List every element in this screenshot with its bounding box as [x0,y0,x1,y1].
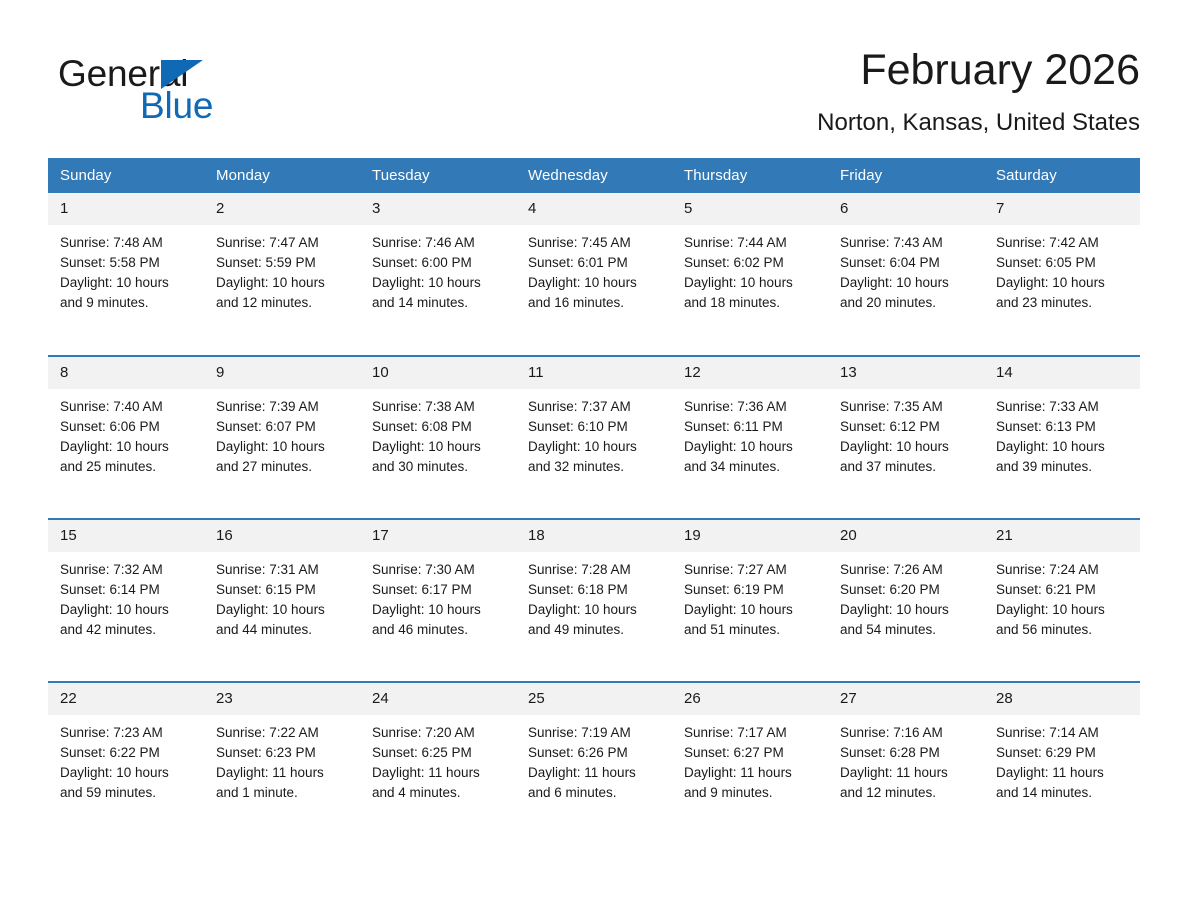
day-details: Sunrise: 7:48 AMSunset: 5:58 PMDaylight:… [48,225,204,313]
calendar-day-cell[interactable]: 2Sunrise: 7:47 AMSunset: 5:59 PMDaylight… [204,193,360,356]
calendar-day-cell[interactable]: 4Sunrise: 7:45 AMSunset: 6:01 PMDaylight… [516,193,672,356]
sunset-text: Sunset: 6:26 PM [528,743,662,763]
daylight-text: Daylight: 10 hours and 23 minutes. [996,273,1130,313]
day-number: 21 [984,520,1140,552]
day-number: 9 [204,357,360,389]
sunset-text: Sunset: 6:15 PM [216,580,350,600]
sunrise-text: Sunrise: 7:16 AM [840,723,974,743]
sunrise-text: Sunrise: 7:39 AM [216,397,350,417]
weekday-header-tuesday: Tuesday [360,158,516,193]
day-details: Sunrise: 7:40 AMSunset: 6:06 PMDaylight:… [48,389,204,477]
daylight-text: Daylight: 11 hours and 12 minutes. [840,763,974,803]
day-details: Sunrise: 7:26 AMSunset: 6:20 PMDaylight:… [828,552,984,640]
day-details: Sunrise: 7:39 AMSunset: 6:07 PMDaylight:… [204,389,360,477]
calendar-day-cell[interactable]: 26Sunrise: 7:17 AMSunset: 6:27 PMDayligh… [672,682,828,845]
sunset-text: Sunset: 6:01 PM [528,253,662,273]
sunset-text: Sunset: 6:19 PM [684,580,818,600]
sunrise-text: Sunrise: 7:47 AM [216,233,350,253]
page-title: February 2026 [440,44,1140,96]
calendar-week-row: 22Sunrise: 7:23 AMSunset: 6:22 PMDayligh… [48,682,1140,845]
day-number: 19 [672,520,828,552]
calendar-body: 1Sunrise: 7:48 AMSunset: 5:58 PMDaylight… [48,193,1140,845]
daylight-text: Daylight: 10 hours and 42 minutes. [60,600,194,640]
calendar-day-cell[interactable]: 27Sunrise: 7:16 AMSunset: 6:28 PMDayligh… [828,682,984,845]
logo-text-blue: Blue [140,84,213,128]
sunrise-text: Sunrise: 7:36 AM [684,397,818,417]
sunset-text: Sunset: 6:13 PM [996,417,1130,437]
day-details: Sunrise: 7:19 AMSunset: 6:26 PMDaylight:… [516,715,672,803]
calendar-day-cell[interactable]: 11Sunrise: 7:37 AMSunset: 6:10 PMDayligh… [516,356,672,519]
calendar-day-cell[interactable]: 12Sunrise: 7:36 AMSunset: 6:11 PMDayligh… [672,356,828,519]
sunrise-text: Sunrise: 7:33 AM [996,397,1130,417]
sunset-text: Sunset: 6:29 PM [996,743,1130,763]
day-number: 2 [204,193,360,225]
calendar-day-cell[interactable]: 7Sunrise: 7:42 AMSunset: 6:05 PMDaylight… [984,193,1140,356]
calendar-day-cell[interactable]: 1Sunrise: 7:48 AMSunset: 5:58 PMDaylight… [48,193,204,356]
calendar-day-cell[interactable]: 14Sunrise: 7:33 AMSunset: 6:13 PMDayligh… [984,356,1140,519]
sunrise-text: Sunrise: 7:31 AM [216,560,350,580]
day-details: Sunrise: 7:37 AMSunset: 6:10 PMDaylight:… [516,389,672,477]
sunrise-text: Sunrise: 7:38 AM [372,397,506,417]
day-details: Sunrise: 7:28 AMSunset: 6:18 PMDaylight:… [516,552,672,640]
sunset-text: Sunset: 6:05 PM [996,253,1130,273]
day-number: 22 [48,683,204,715]
day-number: 26 [672,683,828,715]
day-details: Sunrise: 7:17 AMSunset: 6:27 PMDaylight:… [672,715,828,803]
sunrise-text: Sunrise: 7:20 AM [372,723,506,743]
weekday-header-sunday: Sunday [48,158,204,193]
day-number: 13 [828,357,984,389]
calendar-day-cell[interactable]: 19Sunrise: 7:27 AMSunset: 6:19 PMDayligh… [672,519,828,682]
sunset-text: Sunset: 5:59 PM [216,253,350,273]
daylight-text: Daylight: 10 hours and 20 minutes. [840,273,974,313]
calendar-day-cell[interactable]: 18Sunrise: 7:28 AMSunset: 6:18 PMDayligh… [516,519,672,682]
day-details: Sunrise: 7:14 AMSunset: 6:29 PMDaylight:… [984,715,1140,803]
daylight-text: Daylight: 11 hours and 6 minutes. [528,763,662,803]
day-details: Sunrise: 7:30 AMSunset: 6:17 PMDaylight:… [360,552,516,640]
sunrise-text: Sunrise: 7:23 AM [60,723,194,743]
calendar-day-cell[interactable]: 16Sunrise: 7:31 AMSunset: 6:15 PMDayligh… [204,519,360,682]
sunset-text: Sunset: 5:58 PM [60,253,194,273]
day-details: Sunrise: 7:20 AMSunset: 6:25 PMDaylight:… [360,715,516,803]
sunrise-text: Sunrise: 7:22 AM [216,723,350,743]
sunset-text: Sunset: 6:08 PM [372,417,506,437]
sunset-text: Sunset: 6:20 PM [840,580,974,600]
calendar-day-cell[interactable]: 13Sunrise: 7:35 AMSunset: 6:12 PMDayligh… [828,356,984,519]
daylight-text: Daylight: 10 hours and 12 minutes. [216,273,350,313]
sunrise-text: Sunrise: 7:24 AM [996,560,1130,580]
day-details: Sunrise: 7:22 AMSunset: 6:23 PMDaylight:… [204,715,360,803]
sunrise-text: Sunrise: 7:44 AM [684,233,818,253]
calendar-day-cell[interactable]: 20Sunrise: 7:26 AMSunset: 6:20 PMDayligh… [828,519,984,682]
calendar-day-cell[interactable]: 23Sunrise: 7:22 AMSunset: 6:23 PMDayligh… [204,682,360,845]
calendar-day-cell[interactable]: 6Sunrise: 7:43 AMSunset: 6:04 PMDaylight… [828,193,984,356]
day-number: 11 [516,357,672,389]
sunset-text: Sunset: 6:18 PM [528,580,662,600]
daylight-text: Daylight: 10 hours and 39 minutes. [996,437,1130,477]
day-number: 5 [672,193,828,225]
daylight-text: Daylight: 11 hours and 4 minutes. [372,763,506,803]
calendar-day-cell[interactable]: 10Sunrise: 7:38 AMSunset: 6:08 PMDayligh… [360,356,516,519]
calendar-day-cell[interactable]: 25Sunrise: 7:19 AMSunset: 6:26 PMDayligh… [516,682,672,845]
daylight-text: Daylight: 10 hours and 27 minutes. [216,437,350,477]
day-details: Sunrise: 7:42 AMSunset: 6:05 PMDaylight:… [984,225,1140,313]
day-number: 16 [204,520,360,552]
daylight-text: Daylight: 10 hours and 51 minutes. [684,600,818,640]
sunrise-text: Sunrise: 7:30 AM [372,560,506,580]
sunrise-text: Sunrise: 7:40 AM [60,397,194,417]
day-details: Sunrise: 7:32 AMSunset: 6:14 PMDaylight:… [48,552,204,640]
sunrise-text: Sunrise: 7:42 AM [996,233,1130,253]
day-details: Sunrise: 7:47 AMSunset: 5:59 PMDaylight:… [204,225,360,313]
day-number: 4 [516,193,672,225]
calendar-week-row: 8Sunrise: 7:40 AMSunset: 6:06 PMDaylight… [48,356,1140,519]
weekday-header-thursday: Thursday [672,158,828,193]
daylight-text: Daylight: 10 hours and 44 minutes. [216,600,350,640]
calendar-day-cell[interactable]: 17Sunrise: 7:30 AMSunset: 6:17 PMDayligh… [360,519,516,682]
calendar-day-cell[interactable]: 21Sunrise: 7:24 AMSunset: 6:21 PMDayligh… [984,519,1140,682]
day-details: Sunrise: 7:46 AMSunset: 6:00 PMDaylight:… [360,225,516,313]
sunset-text: Sunset: 6:02 PM [684,253,818,273]
sunset-text: Sunset: 6:23 PM [216,743,350,763]
day-details: Sunrise: 7:35 AMSunset: 6:12 PMDaylight:… [828,389,984,477]
day-details: Sunrise: 7:38 AMSunset: 6:08 PMDaylight:… [360,389,516,477]
sunrise-text: Sunrise: 7:27 AM [684,560,818,580]
daylight-text: Daylight: 10 hours and 56 minutes. [996,600,1130,640]
day-number: 8 [48,357,204,389]
sunset-text: Sunset: 6:10 PM [528,417,662,437]
daylight-text: Daylight: 10 hours and 37 minutes. [840,437,974,477]
calendar-container: Sunday Monday Tuesday Wednesday Thursday… [48,158,1140,845]
sunrise-text: Sunrise: 7:45 AM [528,233,662,253]
day-number: 27 [828,683,984,715]
daylight-text: Daylight: 11 hours and 14 minutes. [996,763,1130,803]
daylight-text: Daylight: 10 hours and 54 minutes. [840,600,974,640]
calendar-day-cell[interactable]: 28Sunrise: 7:14 AMSunset: 6:29 PMDayligh… [984,682,1140,845]
day-number: 28 [984,683,1140,715]
day-details: Sunrise: 7:23 AMSunset: 6:22 PMDaylight:… [48,715,204,803]
day-number: 6 [828,193,984,225]
calendar-page: General Blue February 2026 Norton, Kansa… [0,0,1188,918]
daylight-text: Daylight: 10 hours and 46 minutes. [372,600,506,640]
day-details: Sunrise: 7:27 AMSunset: 6:19 PMDaylight:… [672,552,828,640]
day-number: 15 [48,520,204,552]
sunset-text: Sunset: 6:27 PM [684,743,818,763]
day-details: Sunrise: 7:16 AMSunset: 6:28 PMDaylight:… [828,715,984,803]
sunset-text: Sunset: 6:06 PM [60,417,194,437]
daylight-text: Daylight: 10 hours and 14 minutes. [372,273,506,313]
day-number: 23 [204,683,360,715]
sunrise-text: Sunrise: 7:28 AM [528,560,662,580]
weekday-header-wednesday: Wednesday [516,158,672,193]
calendar-day-cell[interactable]: 9Sunrise: 7:39 AMSunset: 6:07 PMDaylight… [204,356,360,519]
day-details: Sunrise: 7:36 AMSunset: 6:11 PMDaylight:… [672,389,828,477]
calendar-day-cell[interactable]: 3Sunrise: 7:46 AMSunset: 6:00 PMDaylight… [360,193,516,356]
sunset-text: Sunset: 6:28 PM [840,743,974,763]
sunset-text: Sunset: 6:07 PM [216,417,350,437]
sunset-text: Sunset: 6:21 PM [996,580,1130,600]
sunrise-text: Sunrise: 7:46 AM [372,233,506,253]
sunrise-text: Sunrise: 7:35 AM [840,397,974,417]
daylight-text: Daylight: 10 hours and 9 minutes. [60,273,194,313]
sunset-text: Sunset: 6:12 PM [840,417,974,437]
calendar-week-row: 15Sunrise: 7:32 AMSunset: 6:14 PMDayligh… [48,519,1140,682]
daylight-text: Daylight: 10 hours and 18 minutes. [684,273,818,313]
calendar-day-cell[interactable]: 24Sunrise: 7:20 AMSunset: 6:25 PMDayligh… [360,682,516,845]
sunrise-text: Sunrise: 7:17 AM [684,723,818,743]
location-subtitle: Norton, Kansas, United States [440,108,1140,138]
calendar-day-cell[interactable]: 15Sunrise: 7:32 AMSunset: 6:14 PMDayligh… [48,519,204,682]
daylight-text: Daylight: 10 hours and 34 minutes. [684,437,818,477]
calendar-day-cell[interactable]: 8Sunrise: 7:40 AMSunset: 6:06 PMDaylight… [48,356,204,519]
sunset-text: Sunset: 6:17 PM [372,580,506,600]
sunset-text: Sunset: 6:14 PM [60,580,194,600]
day-number: 10 [360,357,516,389]
calendar-header-row: Sunday Monday Tuesday Wednesday Thursday… [48,158,1140,193]
sunset-text: Sunset: 6:22 PM [60,743,194,763]
day-details: Sunrise: 7:45 AMSunset: 6:01 PMDaylight:… [516,225,672,313]
daylight-text: Daylight: 10 hours and 32 minutes. [528,437,662,477]
daylight-text: Daylight: 11 hours and 1 minute. [216,763,350,803]
sunrise-text: Sunrise: 7:26 AM [840,560,974,580]
daylight-text: Daylight: 10 hours and 49 minutes. [528,600,662,640]
daylight-text: Daylight: 10 hours and 30 minutes. [372,437,506,477]
sunrise-text: Sunrise: 7:32 AM [60,560,194,580]
generalblue-logo[interactable]: General Blue [58,52,338,132]
page-header: General Blue February 2026 Norton, Kansa… [48,44,1140,148]
day-details: Sunrise: 7:31 AMSunset: 6:15 PMDaylight:… [204,552,360,640]
day-number: 17 [360,520,516,552]
day-number: 1 [48,193,204,225]
day-details: Sunrise: 7:44 AMSunset: 6:02 PMDaylight:… [672,225,828,313]
calendar-day-cell[interactable]: 22Sunrise: 7:23 AMSunset: 6:22 PMDayligh… [48,682,204,845]
title-block: February 2026 Norton, Kansas, United Sta… [440,44,1140,138]
day-number: 18 [516,520,672,552]
sunset-text: Sunset: 6:04 PM [840,253,974,273]
sunrise-text: Sunrise: 7:19 AM [528,723,662,743]
day-number: 12 [672,357,828,389]
day-details: Sunrise: 7:43 AMSunset: 6:04 PMDaylight:… [828,225,984,313]
sunrise-text: Sunrise: 7:43 AM [840,233,974,253]
sunset-text: Sunset: 6:11 PM [684,417,818,437]
day-number: 20 [828,520,984,552]
calendar-table: Sunday Monday Tuesday Wednesday Thursday… [48,158,1140,845]
day-number: 24 [360,683,516,715]
weekday-header-monday: Monday [204,158,360,193]
day-number: 14 [984,357,1140,389]
day-number: 7 [984,193,1140,225]
day-details: Sunrise: 7:33 AMSunset: 6:13 PMDaylight:… [984,389,1140,477]
calendar-day-cell[interactable]: 5Sunrise: 7:44 AMSunset: 6:02 PMDaylight… [672,193,828,356]
daylight-text: Daylight: 10 hours and 16 minutes. [528,273,662,313]
sunset-text: Sunset: 6:25 PM [372,743,506,763]
day-number: 3 [360,193,516,225]
weekday-header-friday: Friday [828,158,984,193]
sunrise-text: Sunrise: 7:37 AM [528,397,662,417]
sunset-text: Sunset: 6:00 PM [372,253,506,273]
daylight-text: Daylight: 10 hours and 25 minutes. [60,437,194,477]
sunrise-text: Sunrise: 7:14 AM [996,723,1130,743]
sunrise-text: Sunrise: 7:48 AM [60,233,194,253]
day-details: Sunrise: 7:24 AMSunset: 6:21 PMDaylight:… [984,552,1140,640]
daylight-text: Daylight: 10 hours and 59 minutes. [60,763,194,803]
daylight-text: Daylight: 11 hours and 9 minutes. [684,763,818,803]
weekday-header-saturday: Saturday [984,158,1140,193]
calendar-week-row: 1Sunrise: 7:48 AMSunset: 5:58 PMDaylight… [48,193,1140,356]
day-number: 25 [516,683,672,715]
